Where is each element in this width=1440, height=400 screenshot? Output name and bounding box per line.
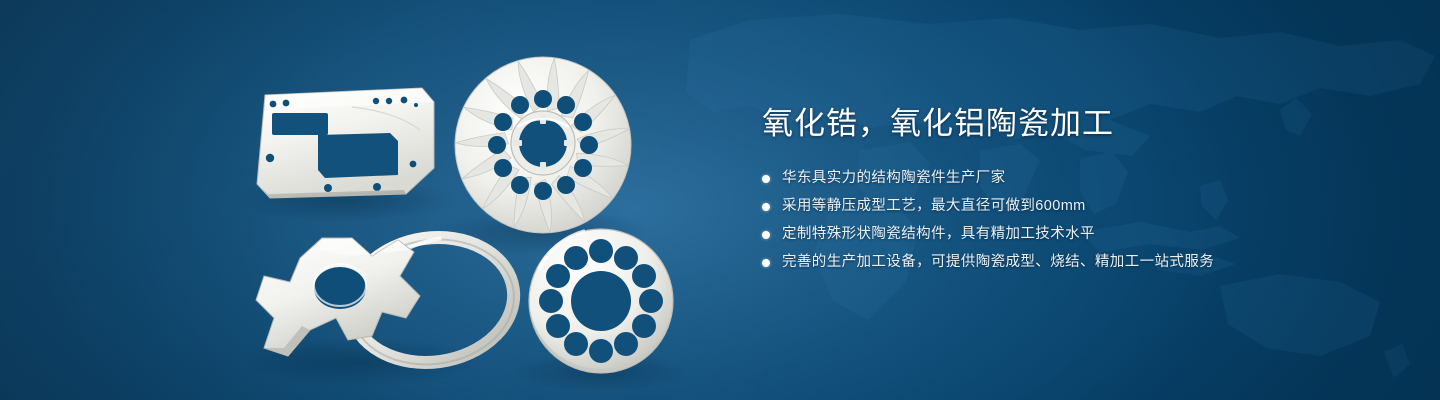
feature-list: 华东具实力的结构陶瓷件生产厂家 采用等静压成型工艺，最大直径可做到600mm 定… bbox=[762, 168, 1402, 273]
list-item-label: 采用等静压成型工艺，最大直径可做到600mm bbox=[782, 196, 1086, 217]
list-item: 华东具实力的结构陶瓷件生产厂家 bbox=[762, 168, 1402, 189]
ceramic-plate-part bbox=[257, 88, 434, 198]
bullet-dot-icon bbox=[762, 231, 770, 239]
list-item-label: 完善的生产加工设备，可提供陶瓷成型、烧结、精加工一站式服务 bbox=[782, 252, 1214, 273]
list-item: 完善的生产加工设备，可提供陶瓷成型、烧结、精加工一站式服务 bbox=[762, 252, 1402, 273]
banner-text-column: 氧化锆，氧化铝陶瓷加工 华东具实力的结构陶瓷件生产厂家 采用等静压成型工艺，最大… bbox=[762, 104, 1402, 280]
list-item: 采用等静压成型工艺，最大直径可做到600mm bbox=[762, 196, 1402, 217]
ceramic-impeller-part bbox=[455, 57, 631, 233]
ceramic-cross-part bbox=[256, 238, 420, 356]
bullet-dot-icon bbox=[762, 175, 770, 183]
ceramic-hole-disc-part bbox=[529, 229, 673, 373]
list-item-label: 定制特殊形状陶瓷结构件，具有精加工技术水平 bbox=[782, 224, 1095, 245]
bullet-dot-icon bbox=[762, 203, 770, 211]
hero-banner: 氧化锆，氧化铝陶瓷加工 华东具实力的结构陶瓷件生产厂家 采用等静压成型工艺，最大… bbox=[0, 0, 1440, 400]
list-item-label: 华东具实力的结构陶瓷件生产厂家 bbox=[782, 168, 1006, 189]
list-item: 定制特殊形状陶瓷结构件，具有精加工技术水平 bbox=[762, 224, 1402, 245]
product-photo-cluster bbox=[0, 0, 740, 400]
bullet-dot-icon bbox=[762, 259, 770, 267]
page-title: 氧化锆，氧化铝陶瓷加工 bbox=[762, 104, 1402, 144]
